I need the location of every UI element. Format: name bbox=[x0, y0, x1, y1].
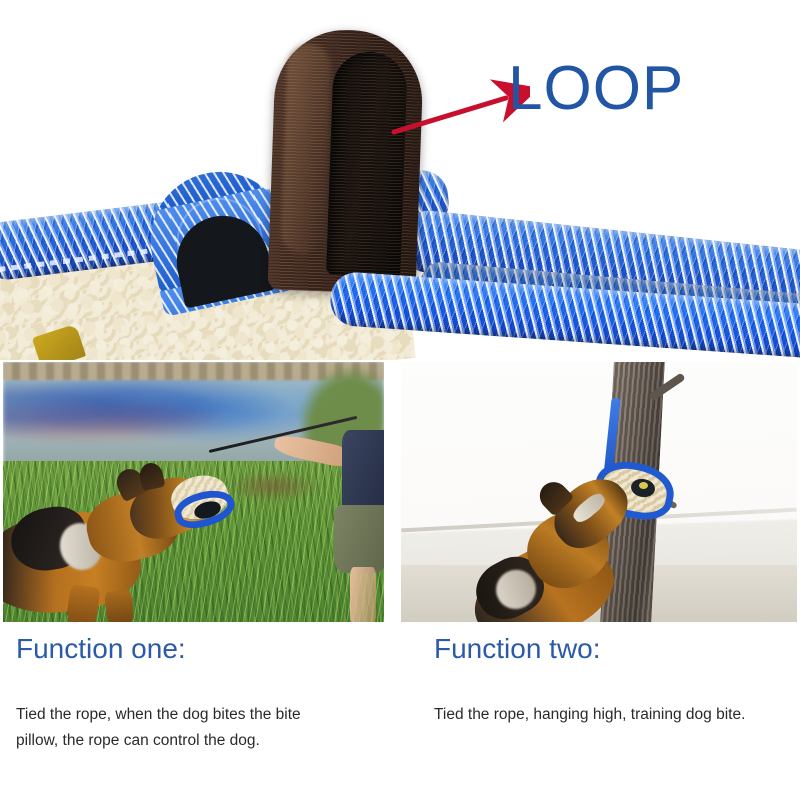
handler-shorts bbox=[334, 505, 384, 573]
function-two-photo bbox=[401, 362, 797, 622]
brown-loop-highlight bbox=[280, 43, 331, 254]
hero-product-photo: LOOP bbox=[0, 0, 800, 360]
caption-function-one: Function one: Tied the rope, when the do… bbox=[0, 622, 400, 800]
caption-area: Function one: Tied the rope, when the do… bbox=[0, 622, 800, 800]
dirt-patch bbox=[224, 471, 323, 502]
infographic-page: LOOP bbox=[0, 0, 800, 800]
function-one-title: Function one: bbox=[16, 634, 186, 664]
function-one-photo bbox=[3, 362, 384, 622]
handler-torso bbox=[342, 430, 384, 513]
function-two-body: Tied the rope, hanging high, training do… bbox=[434, 702, 786, 728]
dog-rear-leg bbox=[104, 590, 134, 622]
handler-leg bbox=[350, 567, 377, 622]
loop-annotation-label: LOOP bbox=[508, 58, 684, 120]
caption-function-two: Function two: Tied the rope, hanging hig… bbox=[400, 622, 800, 800]
function-two-title: Function two: bbox=[434, 634, 601, 664]
function-one-body: Tied the rope, when the dog bites the bi… bbox=[16, 702, 346, 754]
dog-front-leg bbox=[65, 584, 101, 622]
